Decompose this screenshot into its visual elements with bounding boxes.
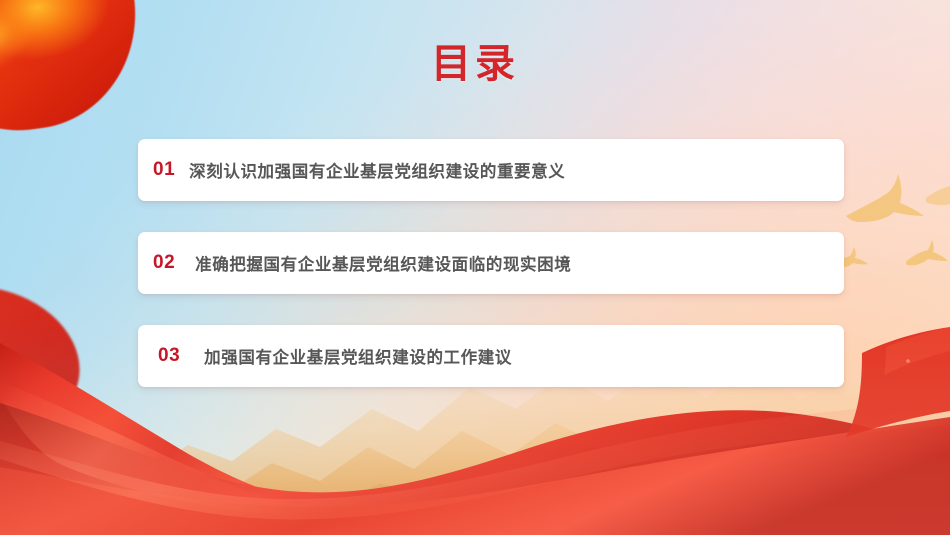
page-title: 目录 <box>0 40 950 88</box>
contents-item-label: 深刻认识加强国有企业基层党组织建设的重要意义 <box>175 158 565 182</box>
contents-item-number: 02 <box>138 252 175 274</box>
contents-item-label: 加强国有企业基层党组织建设的工作建议 <box>180 344 512 368</box>
contents-item-02[interactable]: 02 准确把握国有企业基层党组织建设面临的现实困境 <box>138 232 844 294</box>
contents-item-number: 01 <box>138 159 175 181</box>
contents-item-label: 准确把握国有企业基层党组织建设面临的现实困境 <box>175 251 571 275</box>
contents-item-number: 03 <box>138 345 180 367</box>
contents-list: 01 深刻认识加强国有企业基层党组织建设的重要意义 02 准确把握国有企业基层党… <box>138 139 844 387</box>
presentation-slide: 目录 01 深刻认识加强国有企业基层党组织建设的重要意义 02 准确把握国有企业… <box>0 0 950 535</box>
contents-item-01[interactable]: 01 深刻认识加强国有企业基层党组织建设的重要意义 <box>138 139 844 201</box>
contents-item-03[interactable]: 03 加强国有企业基层党组织建设的工作建议 <box>138 325 844 387</box>
